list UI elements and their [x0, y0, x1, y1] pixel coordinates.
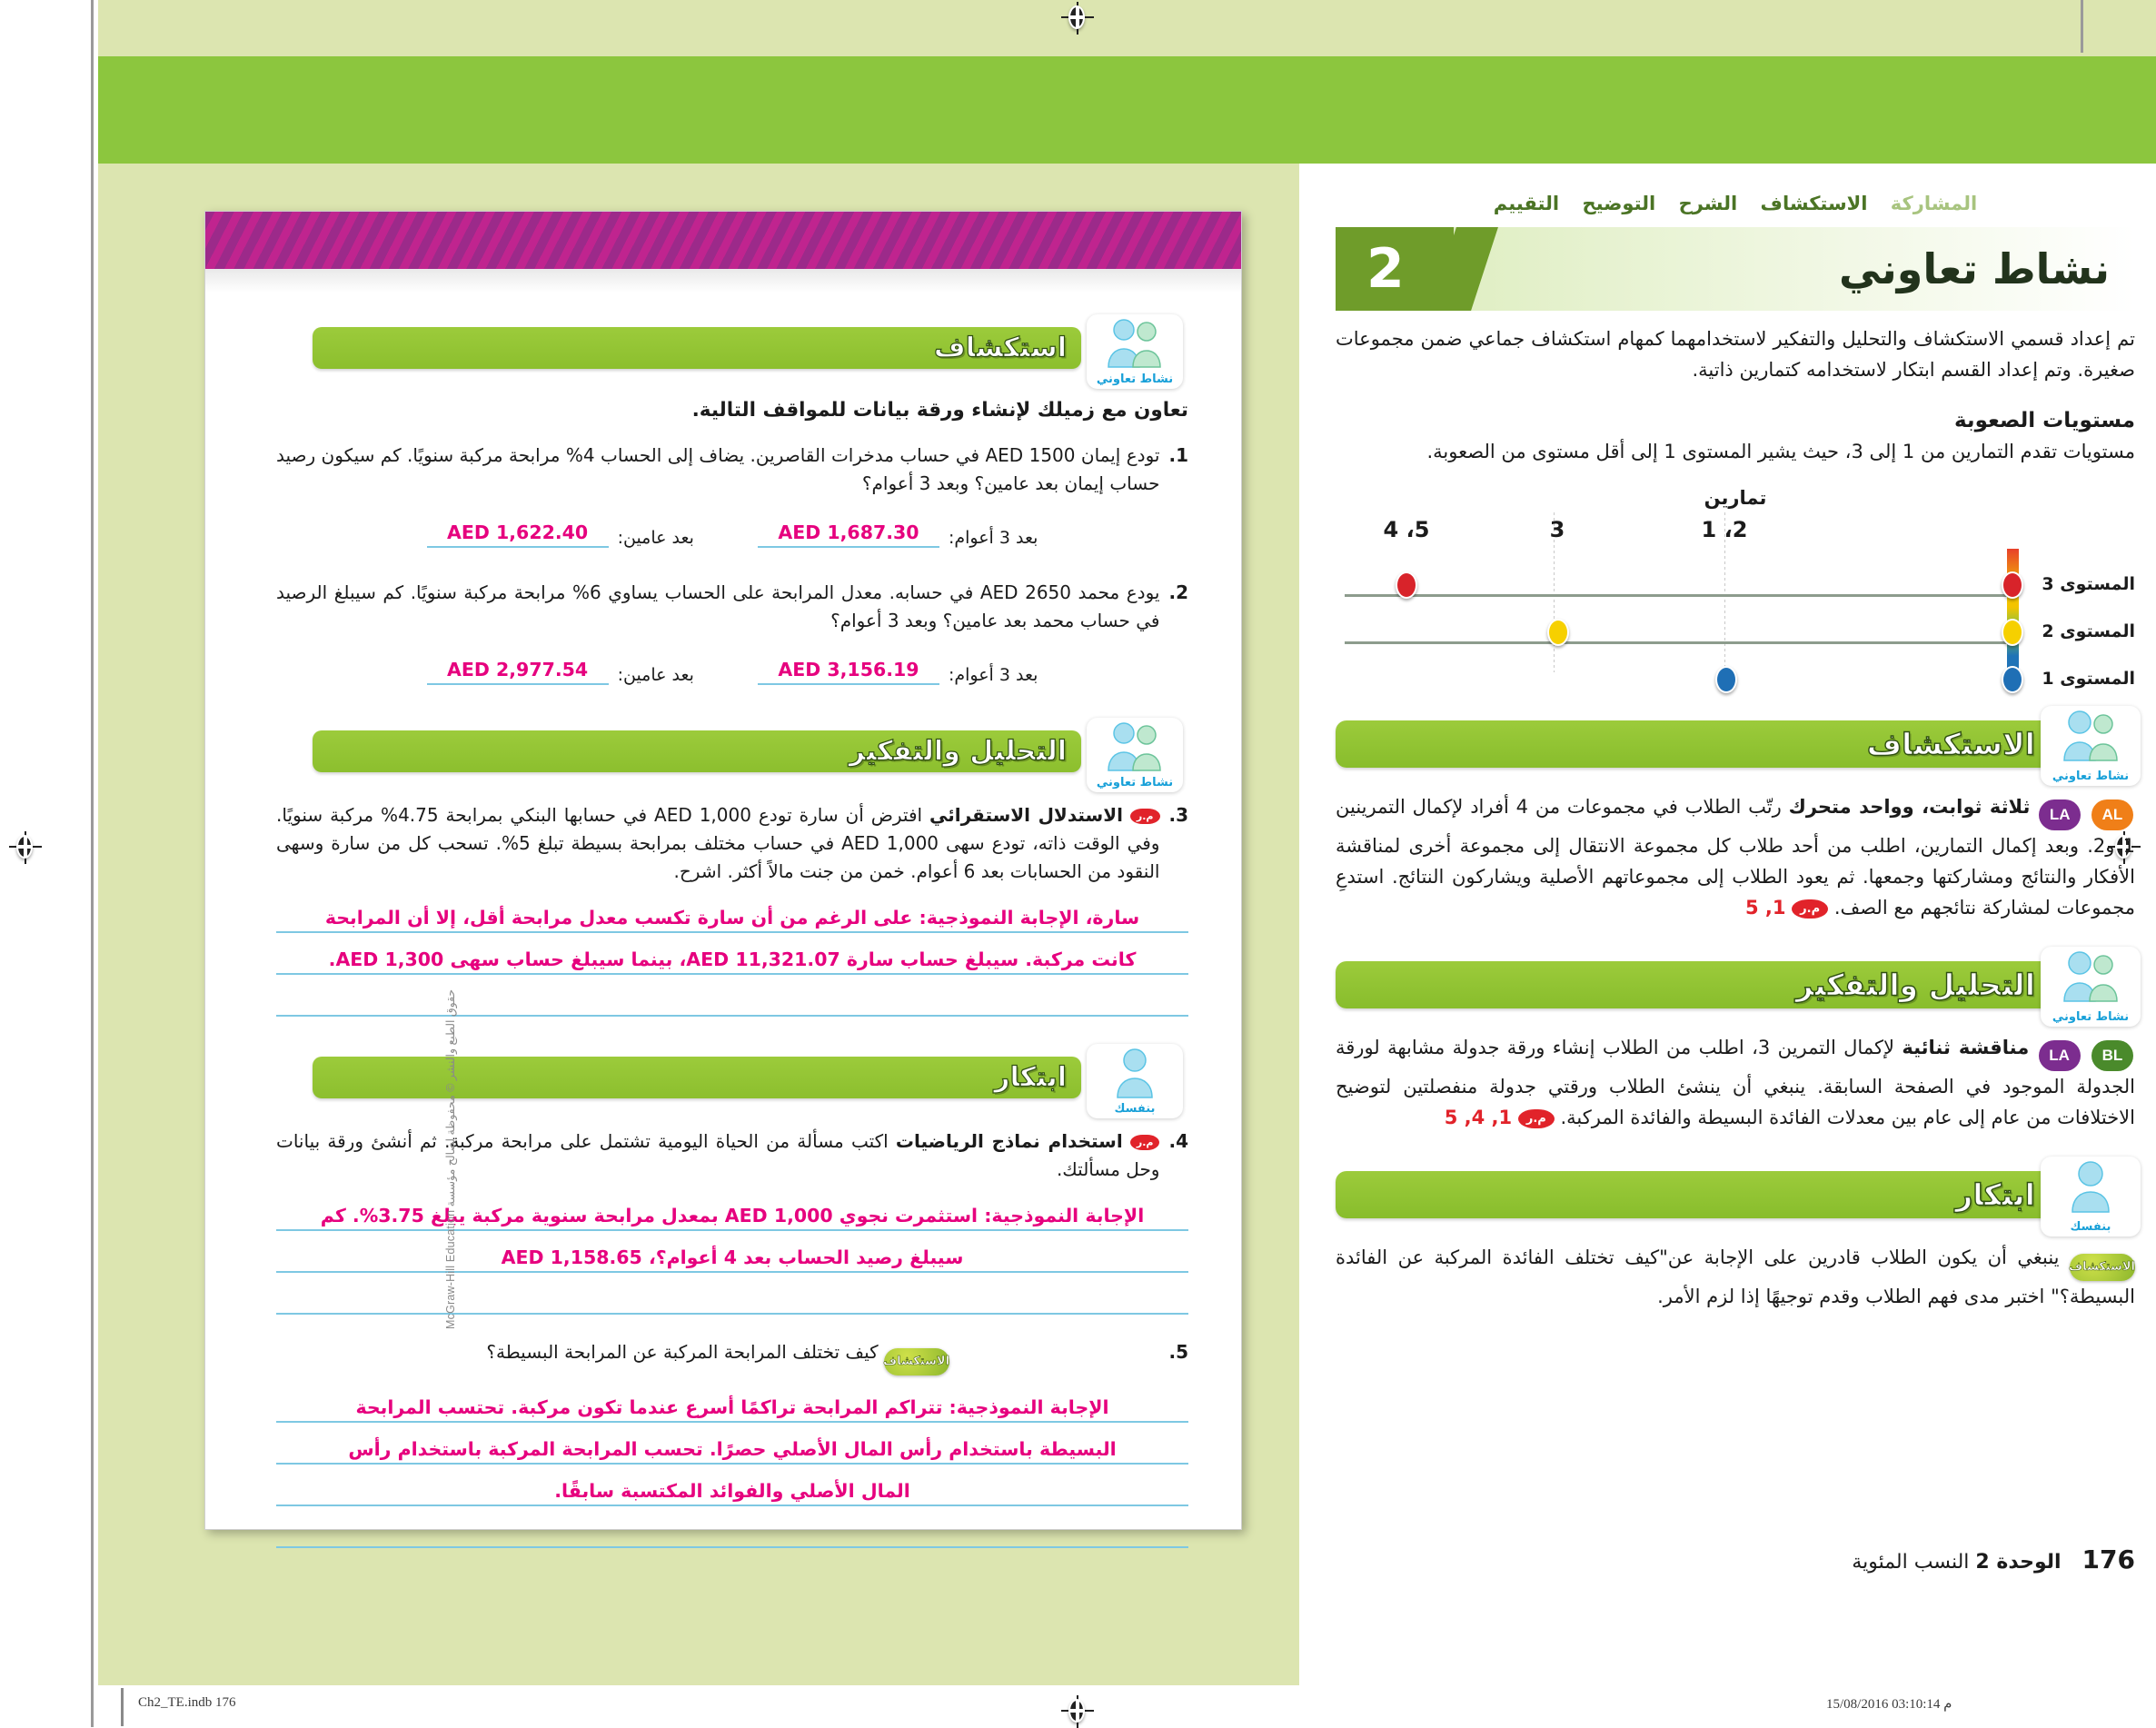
badge-caption: نشاط تعاوني	[1087, 776, 1183, 790]
answer-line[interactable]: البسيطة باستخدام رأس المال الأصلي حصرًا.…	[276, 1423, 1188, 1465]
registration-mark-top	[1061, 2, 1094, 35]
answer-value[interactable]: AED 3,156.19	[758, 659, 939, 685]
page-title: نشاط تعاوني	[1839, 244, 2110, 293]
answer-line[interactable]: الإجابة النموذجية: تتراكم المرابحة تراكم…	[276, 1381, 1188, 1423]
breadcrumb-item-evaluate[interactable]: التقييم	[1494, 193, 1559, 214]
teacher-section-body-explore: AL LA ثلاثة ثوابت، وواحد متحرك رتّب الطل…	[1336, 791, 2135, 923]
answer-row-1: بعد 3 أعوام: AED 1,687.30 بعد عامين: AED…	[276, 521, 1188, 548]
answer-line[interactable]: الإجابة النموذجية: استثمرت نجوي AED 1,00…	[276, 1189, 1188, 1231]
practice-marker-numbers: 1, 5	[1745, 897, 1786, 919]
answer-value[interactable]: AED 1,622.40	[427, 521, 609, 548]
worksheet-header-sheen	[205, 269, 1241, 293]
page-root: استكشاف نشاط تعاوني تعاون مع زميلك لإنشا…	[0, 0, 2156, 1727]
section-pill: التحليل والتفكير	[1336, 961, 2052, 1008]
explore-chip: الاستكشاف	[2070, 1254, 2135, 1281]
chart-column-label: 3	[1503, 517, 1612, 542]
two-people-icon: نشاط تعاوني	[2041, 706, 2141, 786]
question-text: يودع محمد AED 2650 في حسابه. معدل المراب…	[276, 579, 1159, 635]
teacher-section-body-analyze: BL LA مناقشة ثنائية لإكمال التمرين 3، اط…	[1336, 1032, 2135, 1133]
section-pill: استكشاف	[313, 327, 1081, 369]
trim-line-right	[2081, 0, 2083, 53]
registration-mark-bottom	[1061, 1695, 1094, 1728]
section-pill: ابتكار	[313, 1057, 1081, 1098]
page-number: 176	[2082, 1544, 2135, 1574]
title-number: 2	[1366, 242, 1405, 296]
teacher-section-header-create: ابتكار بنفسك	[1336, 1157, 2135, 1229]
page-title-banner: 2 نشاط تعاوني	[1336, 227, 2135, 311]
question-number: 1.	[1168, 442, 1188, 470]
question-text: م.ر استخدام نماذج الرياضيات اكتب مسألة م…	[276, 1127, 1159, 1184]
chart-row-divider	[1345, 594, 2019, 597]
answer-lines-3: سارة، الإجابة النموذجية: على الرغم من أن…	[276, 891, 1188, 1017]
question-body: كيف تختلف المرابحة المركبة عن المرابحة ا…	[486, 1341, 878, 1363]
section-pill: التحليل والتفكير	[313, 730, 1081, 772]
question-text: م.ر الاستدلال الاستقرائي افترض أن سارة ت…	[276, 801, 1159, 886]
breadcrumb-item-elaborate[interactable]: التوضيح	[1582, 193, 1655, 214]
one-person-icon: بنفسك	[2041, 1157, 2141, 1236]
question-text: تودع إيمان AED 1500 في حساب مدخرات القاص…	[276, 442, 1159, 498]
worksheet-intro: تعاون مع زميلك لإنشاء ورقة بيانات للمواق…	[276, 396, 1188, 425]
teacher-column: المشاركة الاستكشاف الشرح التوضيح التقييم…	[1336, 193, 2135, 1312]
section-pill-label: استكشاف	[934, 333, 1067, 364]
chart-row-label: المستوى 2	[2024, 621, 2135, 641]
footer-rule	[121, 1688, 124, 1726]
difficulty-chart: تمارين 5، 4 3 2، 1 المستوى 3 المستوى 2 ا…	[1336, 487, 2135, 682]
chart-dot-level1-spine	[2002, 666, 2023, 693]
section-pill-label: الاستكشاف	[1867, 727, 2035, 762]
badge-caption: بنفسك	[2041, 1220, 2141, 1234]
chart-dot-level1	[1715, 666, 1737, 693]
teacher-section-body-create: الاستكشاف ينبغي أن يكون الطلاب قادرين عل…	[1336, 1242, 2135, 1312]
footer-unit-label: الوحدة 2	[1975, 1551, 2061, 1574]
worksheet-question-2: 2. يودع محمد AED 2650 في حسابه. معدل الم…	[276, 579, 1188, 635]
chip-bl: BL	[2091, 1040, 2133, 1071]
answer-value[interactable]: AED 2,977.54	[427, 659, 609, 685]
breadcrumb: المشاركة الاستكشاف الشرح التوضيح التقييم	[1336, 193, 2135, 214]
practice-marker: م.ر	[1130, 1135, 1160, 1150]
practice-marker: م.ر	[1518, 1109, 1555, 1128]
answer-row-2: بعد 3 أعوام: AED 3,156.19 بعد عامين: AED…	[276, 659, 1188, 685]
chart-dot-level3-spine	[2002, 571, 2023, 599]
print-timestamp: 15/08/2016 03:10:14 م	[1826, 1695, 1952, 1713]
practice-marker: م.ر	[1130, 809, 1160, 824]
difficulty-paragraph: مستويات تقدم التمارين من 1 إلى 3، حيث يش…	[1336, 436, 2135, 467]
badge-caption: نشاط تعاوني	[2041, 770, 2141, 783]
answer-label: بعد عامين:	[618, 665, 694, 685]
top-green-band	[98, 56, 2156, 164]
chart-row-label: المستوى 3	[2024, 574, 2135, 594]
question-number: 2.	[1168, 579, 1188, 607]
answer-group: بعد 3 أعوام: AED 3,156.19	[758, 659, 1038, 685]
registration-mark-left	[9, 831, 42, 864]
section-lead: ثلاثة ثوابت، وواحد متحرك	[1789, 796, 2031, 818]
answer-group: بعد عامين: AED 2,977.54	[427, 659, 694, 685]
answer-group: بعد عامين: AED 1,622.40	[427, 521, 694, 548]
badge-caption: نشاط تعاوني	[2041, 1010, 2141, 1024]
two-people-icon: نشاط تعاوني	[2041, 947, 2141, 1027]
section-body: ينبغي أن يكون الطلاب قادرين على الإجابة …	[1336, 1246, 2135, 1307]
worksheet-question-3: 3. م.ر الاستدلال الاستقرائي افترض أن سار…	[276, 801, 1188, 886]
chart-row-label: المستوى 1	[2024, 669, 2135, 689]
copyright-notice: حقوق الطبع والنشر © محفوظة لصالح مؤسسة M…	[443, 989, 457, 1329]
trim-line-left	[91, 0, 94, 1727]
section-pill-label: التحليل والتفكير	[849, 736, 1067, 768]
explore-chip: الاستكشاف	[884, 1348, 949, 1375]
answer-label: بعد 3 أعوام:	[949, 528, 1038, 548]
section-pill-label: ابتكار	[1955, 1177, 2035, 1213]
chip-al: AL	[2091, 799, 2133, 830]
answer-line[interactable]	[276, 1273, 1188, 1315]
chart-color-spine	[2007, 549, 2019, 670]
teacher-section-header-explore: الاستكشاف نشاط تعاوني	[1336, 706, 2135, 779]
chart-dot-level3	[1396, 571, 1417, 599]
badge-caption: نشاط تعاوني	[1087, 372, 1183, 386]
answer-group: بعد 3 أعوام: AED 1,687.30	[758, 521, 1038, 548]
teacher-intro-paragraph: تم إعداد قسمي الاستكشاف والتحليل والتفكي…	[1336, 323, 2135, 385]
question-number: 3.	[1168, 801, 1188, 829]
footer-unit-title: النسب المئوية	[1852, 1551, 1969, 1574]
answer-lines-4: الإجابة النموذجية: استثمرت نجوي AED 1,00…	[276, 1189, 1188, 1315]
chart-column-label: 5، 4	[1352, 517, 1461, 542]
answer-line[interactable]: المال الأصلي والفوائد المكتسبة سابقًا.	[276, 1465, 1188, 1506]
answer-line[interactable]: كانت مركبة. سيبلغ حساب سارة AED 11,321.0…	[276, 933, 1188, 975]
two-people-icon: نشاط تعاوني	[1087, 718, 1183, 792]
section-pill-label: ابتكار	[994, 1062, 1067, 1094]
answer-line[interactable]	[276, 1506, 1188, 1548]
question-lead: استخدام نماذج الرياضيات	[896, 1130, 1123, 1152]
question-text: الاستكشاف كيف تختلف المرابحة المركبة عن …	[276, 1338, 1159, 1375]
practice-marker: م.ر	[1792, 899, 1828, 919]
question-number: 4.	[1168, 1127, 1188, 1156]
difficulty-heading: مستويات الصعوبة	[1336, 409, 2135, 432]
answer-lines-5: الإجابة النموذجية: تتراكم المرابحة تراكم…	[276, 1381, 1188, 1548]
answer-line[interactable]: سارة، الإجابة النموذجية: على الرغم من أن…	[276, 891, 1188, 933]
answer-line[interactable]: سيبلغ رصيد الحساب بعد 4 أعوام؟، AED 1,15…	[276, 1231, 1188, 1273]
answer-value[interactable]: AED 1,687.30	[758, 521, 939, 548]
answer-label: بعد 3 أعوام:	[949, 665, 1038, 685]
breadcrumb-item-explain[interactable]: الشرح	[1679, 193, 1738, 214]
section-pill-label: التحليل والتفكير	[1796, 968, 2035, 1003]
badge-caption: بنفسك	[1087, 1102, 1183, 1116]
student-worksheet-card: استكشاف نشاط تعاوني تعاون مع زميلك لإنشا…	[204, 211, 1242, 1530]
worksheet-question-5: 5. الاستكشاف كيف تختلف المرابحة المركبة …	[276, 1338, 1188, 1375]
section-pill: ابتكار	[1336, 1171, 2052, 1218]
chart-dot-level2-spine	[2002, 619, 2023, 646]
chip-la: LA	[2039, 1040, 2081, 1071]
two-people-icon: نشاط تعاوني	[1087, 314, 1183, 389]
practice-marker-numbers: 1, 4, 5	[1445, 1107, 1512, 1128]
chart-column-label: 2، 1	[1670, 517, 1779, 542]
print-filename: Ch2_TE.indb 176	[138, 1695, 236, 1711]
page-footer: 176 الوحدة 2 النسب المئوية	[1336, 1544, 2135, 1574]
chart-title: تمارين	[1336, 487, 2135, 509]
worksheet-question-4: 4. م.ر استخدام نماذج الرياضيات اكتب مسأل…	[276, 1127, 1188, 1184]
section-pill: الاستكشاف	[1336, 720, 2052, 768]
worksheet-question-1: 1. تودع إيمان AED 1500 في حساب مدخرات ال…	[276, 442, 1188, 498]
question-number: 5.	[1168, 1338, 1188, 1366]
worksheet-section-header-explore: استكشاف نشاط تعاوني	[276, 314, 1188, 382]
breadcrumb-item-share[interactable]: المشاركة	[1891, 193, 1977, 214]
teacher-section-header-analyze: التحليل والتفكير نشاط تعاوني	[1336, 947, 2135, 1019]
answer-label: بعد عامين:	[618, 528, 694, 548]
section-lead: مناقشة ثنائية	[1902, 1037, 2029, 1058]
chart-dot-level2	[1547, 619, 1569, 646]
one-person-icon: بنفسك	[1087, 1044, 1183, 1118]
chart-row-divider	[1345, 641, 2019, 644]
chip-la: LA	[2039, 799, 2081, 830]
worksheet-striped-header	[205, 212, 1241, 269]
worksheet-section-header-analyze: التحليل والتفكير نشاط تعاوني	[276, 718, 1188, 785]
question-lead: الاستدلال الاستقرائي	[929, 804, 1123, 826]
breadcrumb-item-explore[interactable]: الاستكشاف	[1761, 193, 1868, 214]
worksheet-section-header-create: ابتكار بنفسك	[276, 1044, 1188, 1111]
answer-line[interactable]	[276, 975, 1188, 1017]
